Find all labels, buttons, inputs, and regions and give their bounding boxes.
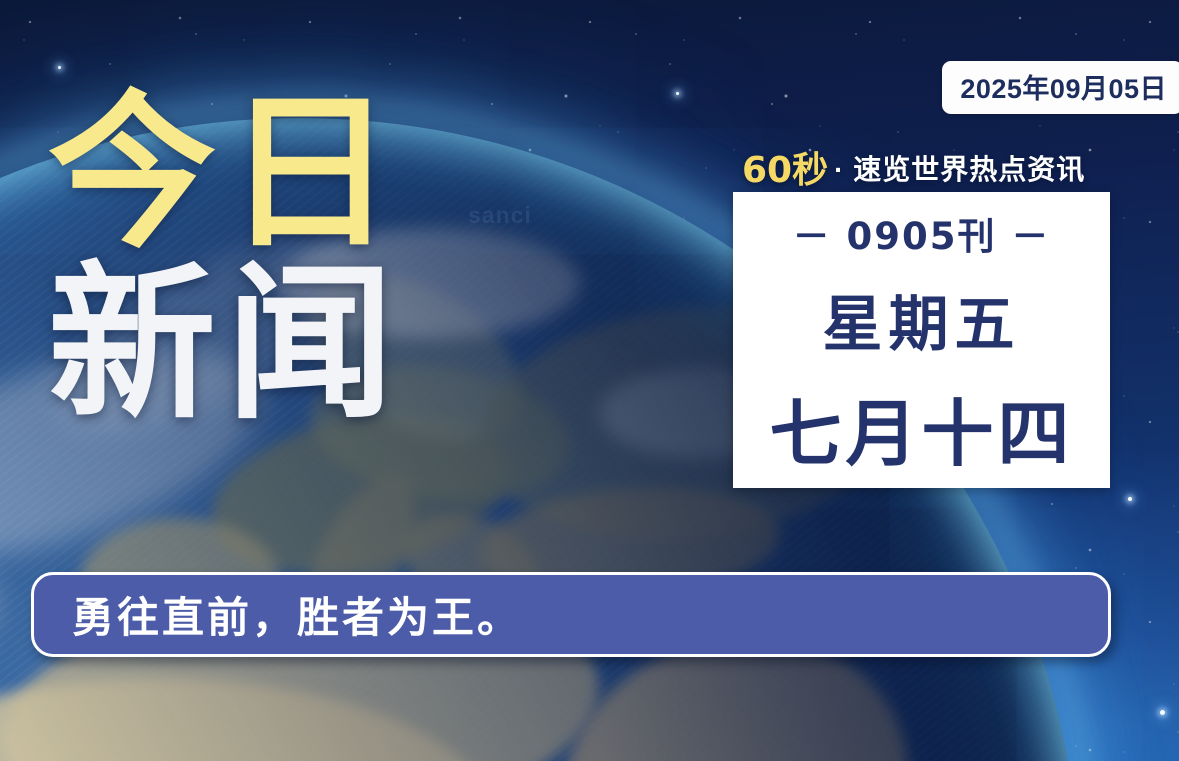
title-line-news: 新闻 bbox=[48, 267, 404, 422]
tagline-description: · 速览世界热点资讯 bbox=[834, 154, 1085, 185]
tagline: 60秒· 速览世界热点资讯 bbox=[742, 141, 1085, 193]
tagline-duration: 60秒 bbox=[742, 150, 828, 191]
issue-info-card: － 0905刊 － 星期五 七月十四 bbox=[733, 192, 1110, 488]
issue-number: － 0905刊 － bbox=[793, 206, 1051, 260]
weekday-label: 星期五 bbox=[823, 276, 1021, 363]
date-badge: 2025年09月05日 bbox=[942, 61, 1179, 114]
title-line-today: 今日 bbox=[48, 96, 404, 251]
poster-title: 今日 新闻 bbox=[48, 96, 404, 421]
slogan-banner: 勇往直前，胜者为王。 bbox=[31, 572, 1111, 657]
poster-canvas: sanci 2025年09月05日 今日 新闻 60秒· 速览世界热点资讯 － … bbox=[0, 0, 1179, 761]
poster-foreground: 2025年09月05日 今日 新闻 60秒· 速览世界热点资讯 － 0905刊 … bbox=[0, 0, 1179, 761]
lunar-date-label: 七月十四 bbox=[769, 375, 1073, 480]
slogan-text: 勇往直前，胜者为王。 bbox=[34, 584, 522, 645]
